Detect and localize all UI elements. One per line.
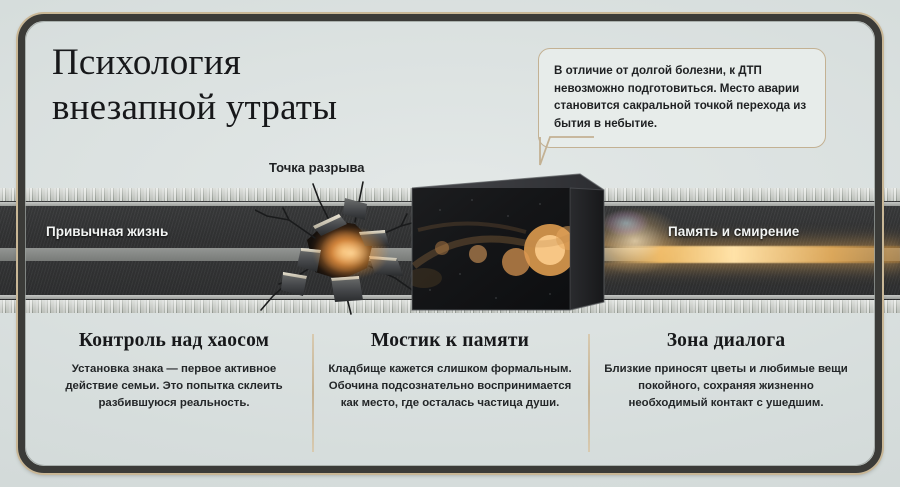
insight-title-3: Зона диалога <box>602 330 850 352</box>
insight-column-2: Мостик к памяти Кладбище кажется слишком… <box>312 330 588 454</box>
callout-bubble: В отличие от долгой болезни, к ДТП невоз… <box>538 48 826 148</box>
page-title-line2: внезапной утраты <box>52 85 482 130</box>
insight-title-2: Мостик к памяти <box>326 330 574 352</box>
infographic-poster: Привычная жизнь Память и смирение Точка … <box>0 0 900 487</box>
insight-body-1: Установка знака — первое активное действ… <box>50 361 298 411</box>
insight-body-3: Близкие приносят цветы и любимые вещи по… <box>602 361 850 411</box>
insight-column-1: Контроль над хаосом Установка знака — пе… <box>36 330 312 454</box>
crack-glow <box>303 220 399 286</box>
insight-title-1: Контроль над хаосом <box>50 330 298 352</box>
callout-bubble-tail-icon <box>536 135 596 169</box>
page-title-line1: Психология <box>52 42 241 83</box>
callout-text: В отличие от долгой болезни, к ДТП невоз… <box>554 62 810 133</box>
insight-columns: Контроль над хаосом Установка знака — пе… <box>36 330 864 454</box>
golden-center-line <box>592 246 900 263</box>
insight-body-2: Кладбище кажется слишком формальным. Обо… <box>326 361 574 411</box>
road-label-left: Привычная жизнь <box>46 224 168 239</box>
granite-monument-block <box>400 170 605 322</box>
insight-column-3: Зона диалога Близкие приносят цветы и лю… <box>588 330 864 454</box>
road-label-right: Память и смирение <box>668 224 799 239</box>
page-title: Психология внезапной утраты <box>52 40 482 130</box>
monument-icon <box>400 170 605 322</box>
break-point-label: Точка разрыва <box>269 160 365 175</box>
